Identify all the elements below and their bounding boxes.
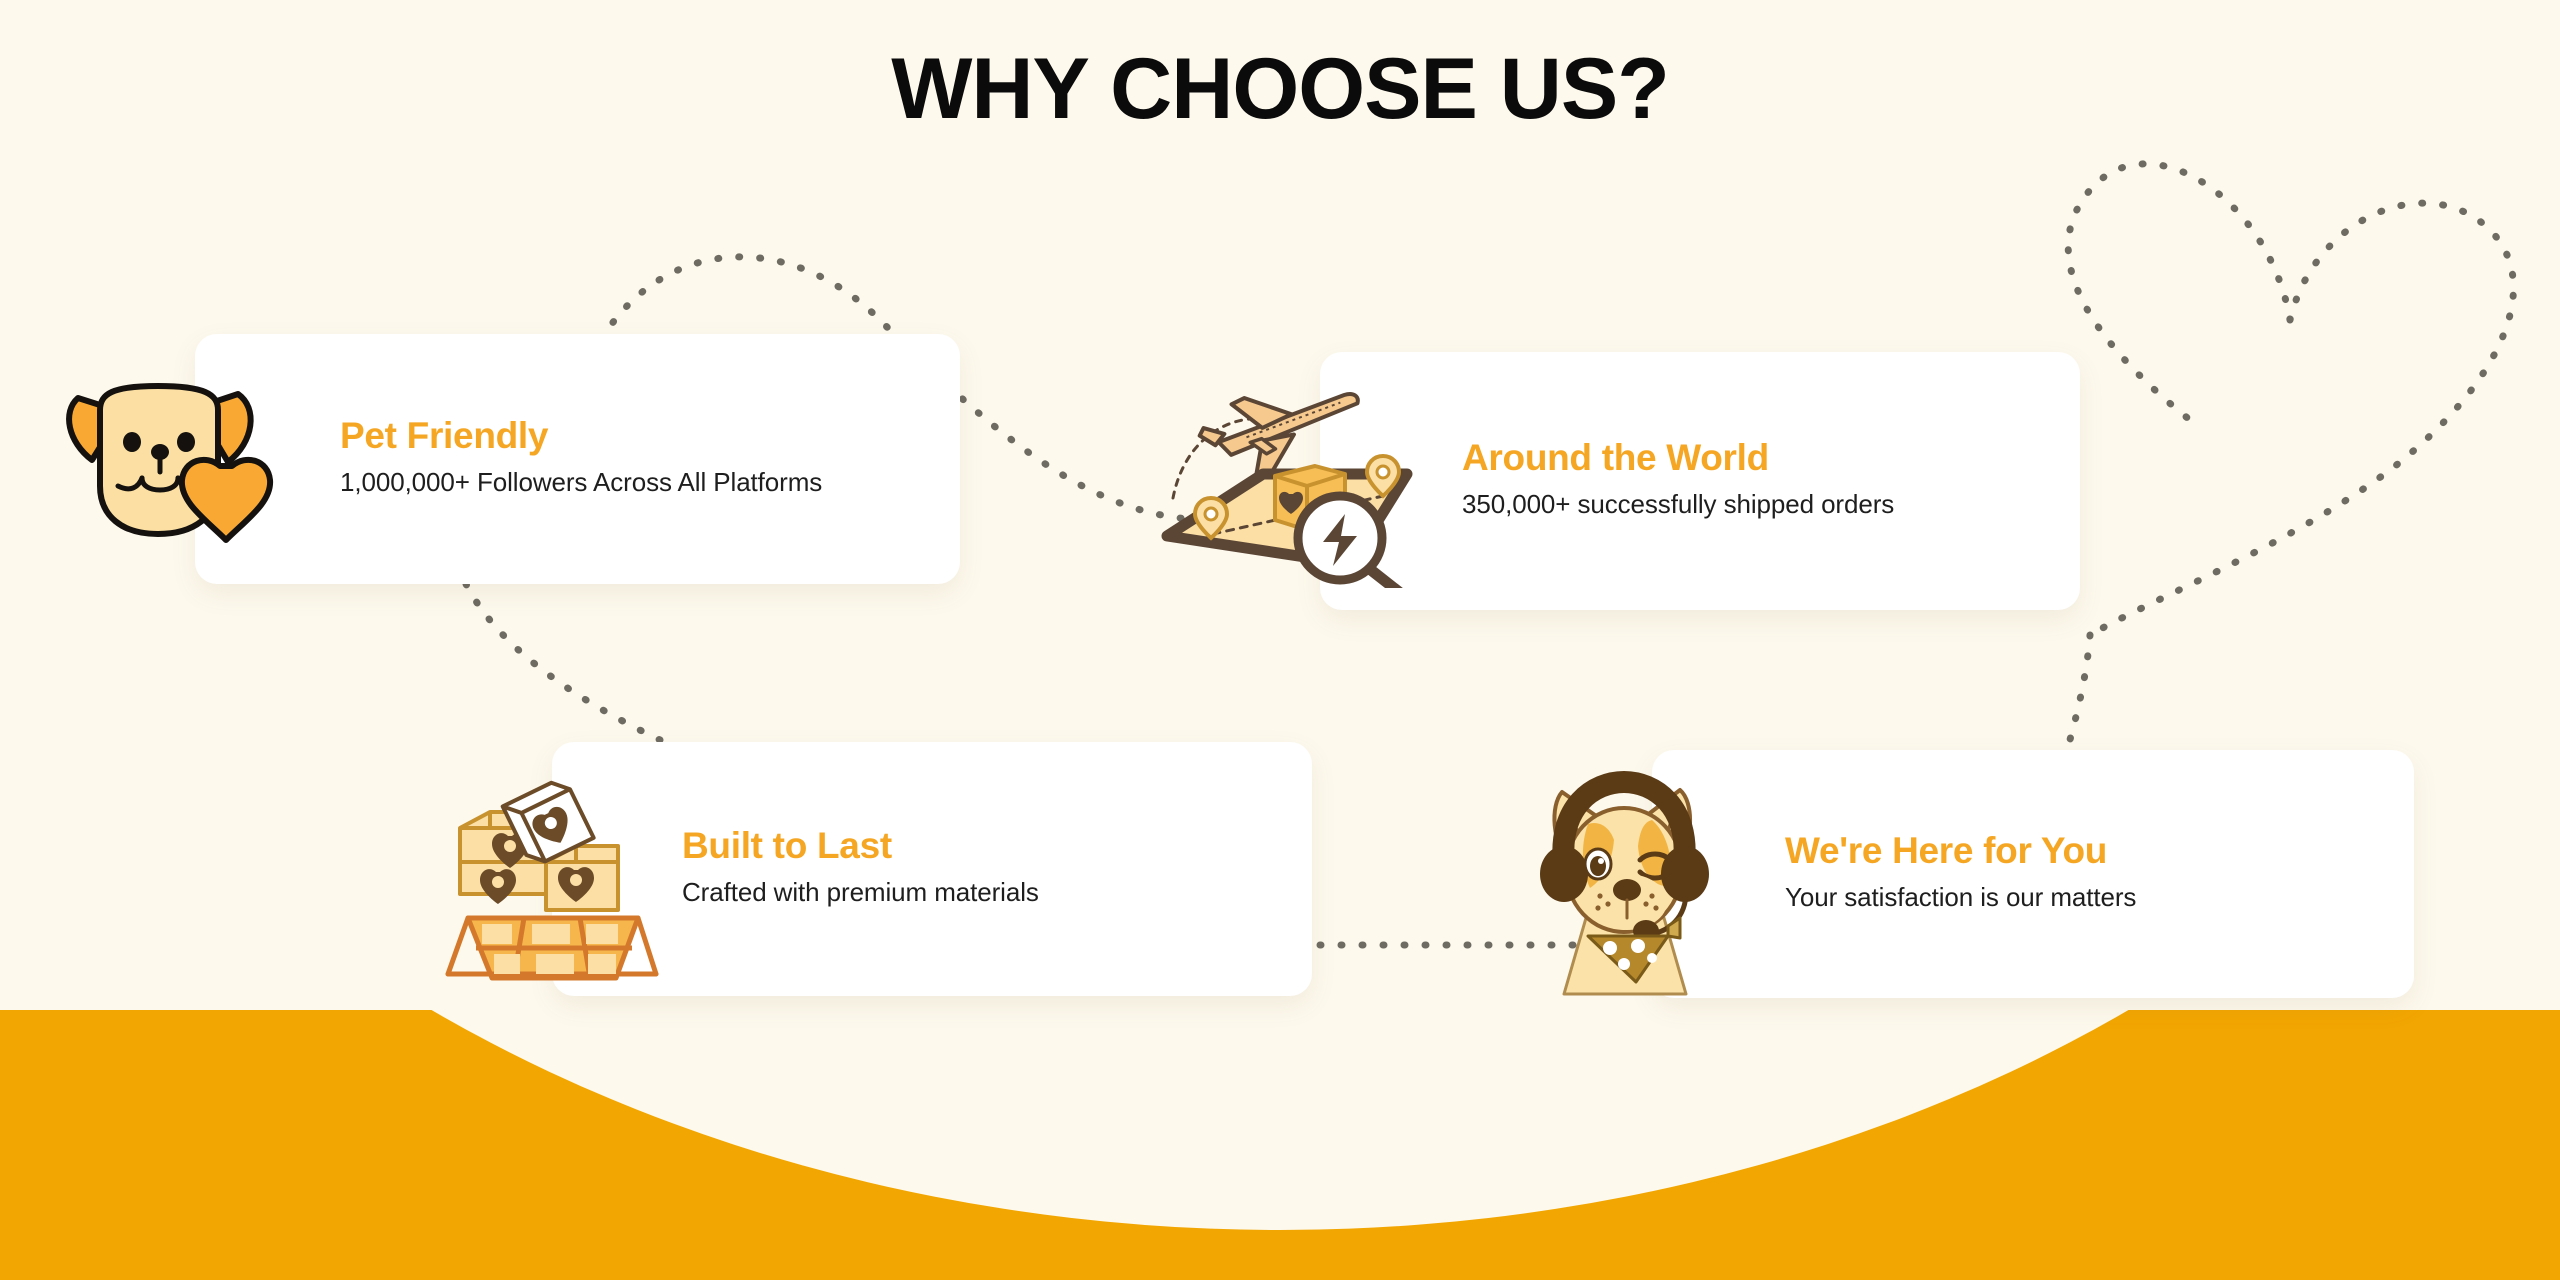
airplane-map-delivery-icon	[1155, 378, 1425, 588]
page-title: WHY CHOOSE US?	[0, 40, 2560, 139]
infographic-stage: WHY CHOOSE US? Pet Friendly 1,000,000+ F…	[0, 0, 2560, 1280]
card-around-the-world-text: Around the World 350,000+ successfully s…	[1462, 437, 1894, 520]
card-built-to-last-subtitle: Crafted with premium materials	[682, 877, 1039, 908]
card-around-the-world-subtitle: 350,000+ successfully shipped orders	[1462, 489, 1894, 520]
card-pet-friendly-text: Pet Friendly 1,000,000+ Followers Across…	[340, 415, 822, 498]
dog-with-heart-icon	[50, 368, 290, 578]
dotted-connectors	[0, 0, 2560, 1280]
card-built-to-last-title: Built to Last	[682, 825, 1039, 867]
support-dog-headset-icon	[1528, 768, 1723, 1000]
stacked-boxes-crate-icon	[438, 762, 668, 992]
dotted-heart-path	[2068, 164, 2513, 635]
card-pet-friendly-subtitle: 1,000,000+ Followers Across All Platform…	[340, 467, 822, 498]
card-here-for-you-text: We're Here for You Your satisfaction is …	[1785, 830, 2136, 913]
card-here-for-you-title: We're Here for You	[1785, 830, 2136, 872]
card-here-for-you-subtitle: Your satisfaction is our matters	[1785, 882, 2136, 913]
card-around-the-world-title: Around the World	[1462, 437, 1894, 479]
bottom-wave	[0, 0, 2560, 1280]
card-pet-friendly-title: Pet Friendly	[340, 415, 822, 457]
card-built-to-last-text: Built to Last Crafted with premium mater…	[682, 825, 1039, 908]
